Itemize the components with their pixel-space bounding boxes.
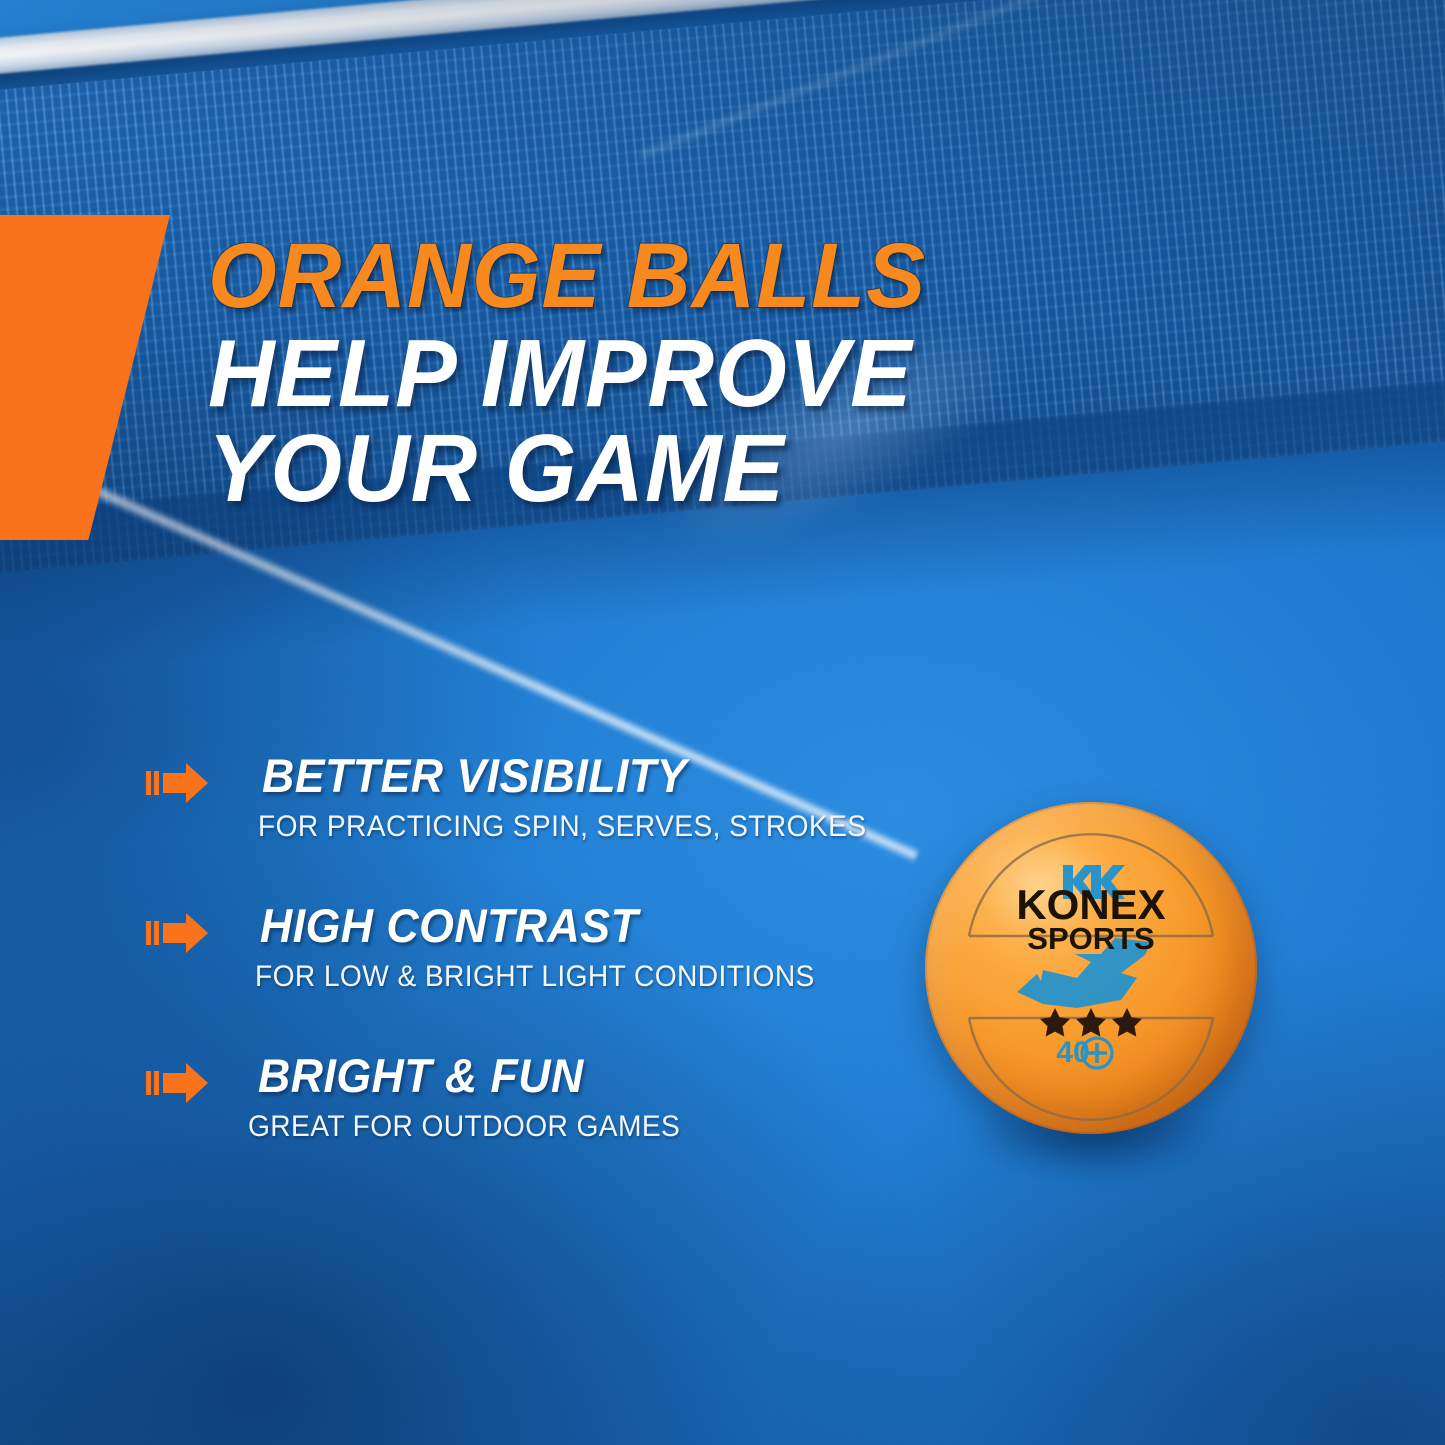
feature-title: BRIGHT & FUN	[258, 1052, 868, 1100]
feature-title: BETTER VISIBILITY	[262, 752, 868, 800]
headline-line-1: ORANGE BALLS	[208, 232, 1283, 321]
table-tennis-ball: 40 KONEX SPORTS	[925, 802, 1257, 1134]
headline-line-2: HELP IMPROVE	[208, 327, 1283, 420]
feature-title: HIGH CONTRAST	[260, 902, 868, 950]
ball-rim	[925, 802, 1257, 1134]
feature-list: BETTER VISIBILITY FOR PRACTICING SPIN, S…	[140, 752, 900, 1144]
feature-subtitle: FOR LOW & BRIGHT LIGHT CONDITIONS	[255, 960, 861, 994]
list-item: BETTER VISIBILITY FOR PRACTICING SPIN, S…	[140, 752, 900, 844]
feature-subtitle: GREAT FOR OUTDOOR GAMES	[248, 1110, 861, 1144]
feature-subtitle: FOR PRACTICING SPIN, SERVES, STROKES	[258, 810, 861, 844]
page-title: ORANGE BALLS HELP IMPROVE YOUR GAME	[208, 232, 1328, 517]
arrow-right-icon	[146, 910, 210, 956]
list-item: BRIGHT & FUN GREAT FOR OUTDOOR GAMES	[140, 1052, 900, 1144]
background-texture	[0, 0, 1445, 1445]
arrow-right-icon	[146, 1060, 210, 1106]
arrow-right-icon	[146, 760, 210, 806]
list-item: HIGH CONTRAST FOR LOW & BRIGHT LIGHT CON…	[140, 902, 900, 994]
product-feature-banner: ORANGE BALLS HELP IMPROVE YOUR GAME BETT…	[0, 0, 1445, 1445]
headline-line-3: YOUR GAME	[208, 422, 1283, 515]
